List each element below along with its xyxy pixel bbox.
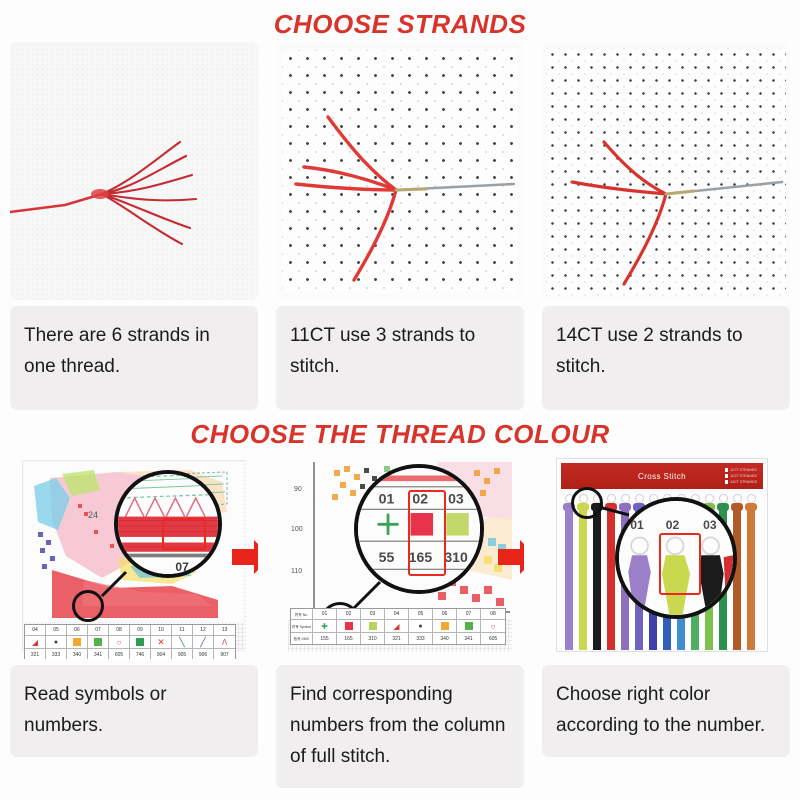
- legend-code: 310: [361, 633, 384, 644]
- tile-chart-legend: 90 100 110 01 02: [276, 454, 524, 659]
- legend-table-middle: 符号 No. 符号 Symbol 色号 DMC 01 ✚ 155 02: [290, 608, 506, 645]
- legend-number: 05: [46, 625, 66, 636]
- legend-code: 905: [172, 649, 192, 659]
- legend-number: 06: [67, 625, 87, 636]
- legend-code: 906: [193, 649, 213, 659]
- legend-code: 904: [151, 649, 171, 659]
- legend-symbol: [67, 636, 87, 649]
- legend-column: 06 340: [67, 625, 88, 659]
- svg-text:03: 03: [448, 491, 464, 507]
- svg-text:310: 310: [444, 549, 468, 565]
- caption-step-3: 14CT use 2 strands to stitch.: [542, 306, 790, 410]
- legend-column: 05 ● 333: [46, 625, 67, 659]
- legend-number: 13: [214, 625, 235, 636]
- tile-pattern-chart: 24: [10, 454, 258, 659]
- card-title: Cross Stitch: [638, 472, 686, 481]
- legend-number: 10: [151, 625, 171, 636]
- legend-header: 色号 DMC: [291, 633, 312, 644]
- legend-column: 03 310: [361, 609, 385, 644]
- colour-step-1: 24: [10, 454, 258, 788]
- legend-column: 12 ╱ 906: [193, 625, 214, 659]
- card-options: 11CT STRANDS 11CT STRANDS 14CT STRANDS: [725, 467, 757, 485]
- card-header: Cross Stitch 11CT STRANDS 11CT STRANDS 1…: [561, 463, 763, 489]
- section-title-choose-strands: CHOOSE STRANDS: [0, 0, 800, 42]
- legend-symbol: ○: [109, 636, 129, 649]
- chart-with-legend: 90 100 110 01 02: [288, 460, 512, 652]
- legend-code: 907: [214, 649, 235, 659]
- magnifier-circle-left: 07: [114, 470, 222, 578]
- red-highlight-box-right: [659, 533, 701, 595]
- red-highlight-box-middle: [408, 490, 446, 576]
- checkbox-icon: [725, 480, 729, 484]
- legend-symbol: Λ: [214, 636, 235, 649]
- legend-header: 符号 No.: [291, 609, 312, 620]
- strand-step-3: 14CT use 2 strands to stitch.: [542, 42, 790, 410]
- legend-number: 04: [25, 625, 45, 636]
- legend-code: 340: [67, 649, 87, 659]
- legend-code: 341: [88, 649, 108, 659]
- caption-step-2: 11CT use 3 strands to stitch.: [276, 306, 524, 410]
- legend-symbol: ○: [481, 620, 505, 633]
- legend-symbol: ✚: [313, 620, 336, 633]
- legend-symbol: ◢: [385, 620, 408, 633]
- legend-code: 746: [130, 649, 150, 659]
- legend-number: 08: [109, 625, 129, 636]
- legend-symbol: ◢: [25, 636, 45, 649]
- right-arrow-icon-2: [498, 540, 524, 574]
- svg-text:03: 03: [703, 518, 717, 532]
- section-title-choose-thread-colour: CHOOSE THE THREAD COLOUR: [0, 410, 800, 454]
- legend-symbol: [337, 620, 360, 633]
- checkbox-icon: [725, 474, 729, 478]
- legend-column: 01 ✚ 155: [313, 609, 337, 644]
- legend-column: 02 165: [337, 609, 361, 644]
- legend-code: 321: [385, 633, 408, 644]
- legend-symbol: ╲: [172, 636, 192, 649]
- magnifier-source-circle: [72, 590, 104, 622]
- legend-number: 05: [409, 609, 432, 620]
- axis-label-row: 110: [291, 568, 302, 575]
- legend-code: 165: [337, 633, 360, 644]
- legend-column: 13 Λ 907: [214, 625, 235, 659]
- photo-14ct-fabric: [542, 42, 790, 300]
- legend-number: 09: [130, 625, 150, 636]
- legend-column: 08 ○ 605: [481, 609, 505, 644]
- legend-column: 07 341: [88, 625, 109, 659]
- legend-number: 12: [193, 625, 213, 636]
- legend-table-left: 04 ◢ 321 05 ● 333 06 340: [24, 624, 236, 659]
- legend-column: 05 ● 333: [409, 609, 433, 644]
- legend-symbol: ●: [46, 636, 66, 649]
- legend-column: 08 ○ 605: [109, 625, 130, 659]
- right-arrow-icon-1: [232, 540, 258, 574]
- axis-label-row: 90: [294, 486, 302, 493]
- caption-colour-step-3: Choose right color according to the numb…: [542, 665, 790, 757]
- colour-row: 24: [0, 454, 800, 788]
- legend-symbol: ✕: [151, 636, 171, 649]
- chart-row-number: 24: [88, 510, 98, 520]
- photo-11ct-fabric: [276, 42, 524, 300]
- legend-number: 02: [337, 609, 360, 620]
- photo-six-strands: [10, 42, 258, 300]
- legend-symbol: ╱: [193, 636, 213, 649]
- legend-symbol: [433, 620, 456, 633]
- legend-column: 10 ✕ 904: [151, 625, 172, 659]
- legend-column: 07 341: [457, 609, 481, 644]
- legend-number: 07: [457, 609, 480, 620]
- svg-text:55: 55: [379, 549, 395, 565]
- pattern-chart: 24: [22, 460, 246, 652]
- legend-code: 341: [457, 633, 480, 644]
- strand-step-2: 11CT use 3 strands to stitch.: [276, 42, 524, 410]
- legend-row-headers: 符号 No. 符号 Symbol 色号 DMC: [291, 609, 313, 644]
- magnifier-source-circle-right: [571, 487, 603, 519]
- infographic-page: CHOOSE STRANDS: [0, 0, 800, 800]
- legend-column: 09 746: [130, 625, 151, 659]
- legend-number: 06: [433, 609, 456, 620]
- legend-column: 04 ◢ 321: [25, 625, 46, 659]
- legend-number: 04: [385, 609, 408, 620]
- legend-code: 333: [409, 633, 432, 644]
- thread-organizer-card: Cross Stitch 11CT STRANDS 11CT STRANDS 1…: [556, 458, 768, 652]
- svg-text:02: 02: [666, 518, 680, 532]
- legend-number: 08: [481, 609, 505, 620]
- legend-symbol: ●: [409, 620, 432, 633]
- needle-two-strands-illustration: [542, 42, 790, 300]
- red-highlight-box: [162, 518, 206, 550]
- legend-code: 605: [109, 649, 129, 659]
- legend-header: 符号 Symbol: [291, 620, 312, 633]
- colour-step-3: Cross Stitch 11CT STRANDS 11CT STRANDS 1…: [542, 454, 790, 788]
- colour-step-2: 90 100 110 01 02: [276, 454, 524, 788]
- svg-text:01: 01: [379, 491, 395, 507]
- legend-number: 07: [88, 625, 108, 636]
- strand-step-1: There are 6 strands in one thread.: [10, 42, 258, 410]
- legend-symbol: [457, 620, 480, 633]
- legend-code: 340: [433, 633, 456, 644]
- magnifier-circle-right: 01 02 03: [615, 497, 737, 619]
- card-option: 14CT STRANDS: [725, 479, 757, 485]
- legend-code: 333: [46, 649, 66, 659]
- magnifier-circle-middle: 01 02 03 55 165 310: [354, 464, 484, 594]
- tile-thread-card: Cross Stitch 11CT STRANDS 11CT STRANDS 1…: [542, 454, 790, 659]
- legend-code: 155: [313, 633, 336, 644]
- axis-label-row: 100: [291, 526, 303, 533]
- legend-column: 04 ◢ 321: [385, 609, 409, 644]
- checkbox-icon: [725, 468, 729, 472]
- strands-row: There are 6 strands in one thread. 11CT …: [0, 42, 800, 410]
- legend-symbol: [361, 620, 384, 633]
- legend-code: 605: [481, 633, 505, 644]
- legend-number: 11: [172, 625, 192, 636]
- magnified-symbol-number: 07: [175, 560, 189, 574]
- legend-column: 11 ╲ 905: [172, 625, 193, 659]
- legend-symbol: [130, 636, 150, 649]
- legend-symbol: [88, 636, 108, 649]
- caption-colour-step-2: Find corresponding numbers from the colu…: [276, 665, 524, 788]
- svg-text:01: 01: [630, 518, 644, 532]
- legend-code: 321: [25, 649, 45, 659]
- legend-number: 03: [361, 609, 384, 620]
- caption-colour-step-1: Read symbols or numbers.: [10, 665, 258, 757]
- legend-column: 06 340: [433, 609, 457, 644]
- needle-three-strands-illustration: [276, 42, 524, 300]
- thread-six-strands-illustration: [10, 42, 258, 300]
- caption-step-1: There are 6 strands in one thread.: [10, 306, 258, 410]
- legend-number: 01: [313, 609, 336, 620]
